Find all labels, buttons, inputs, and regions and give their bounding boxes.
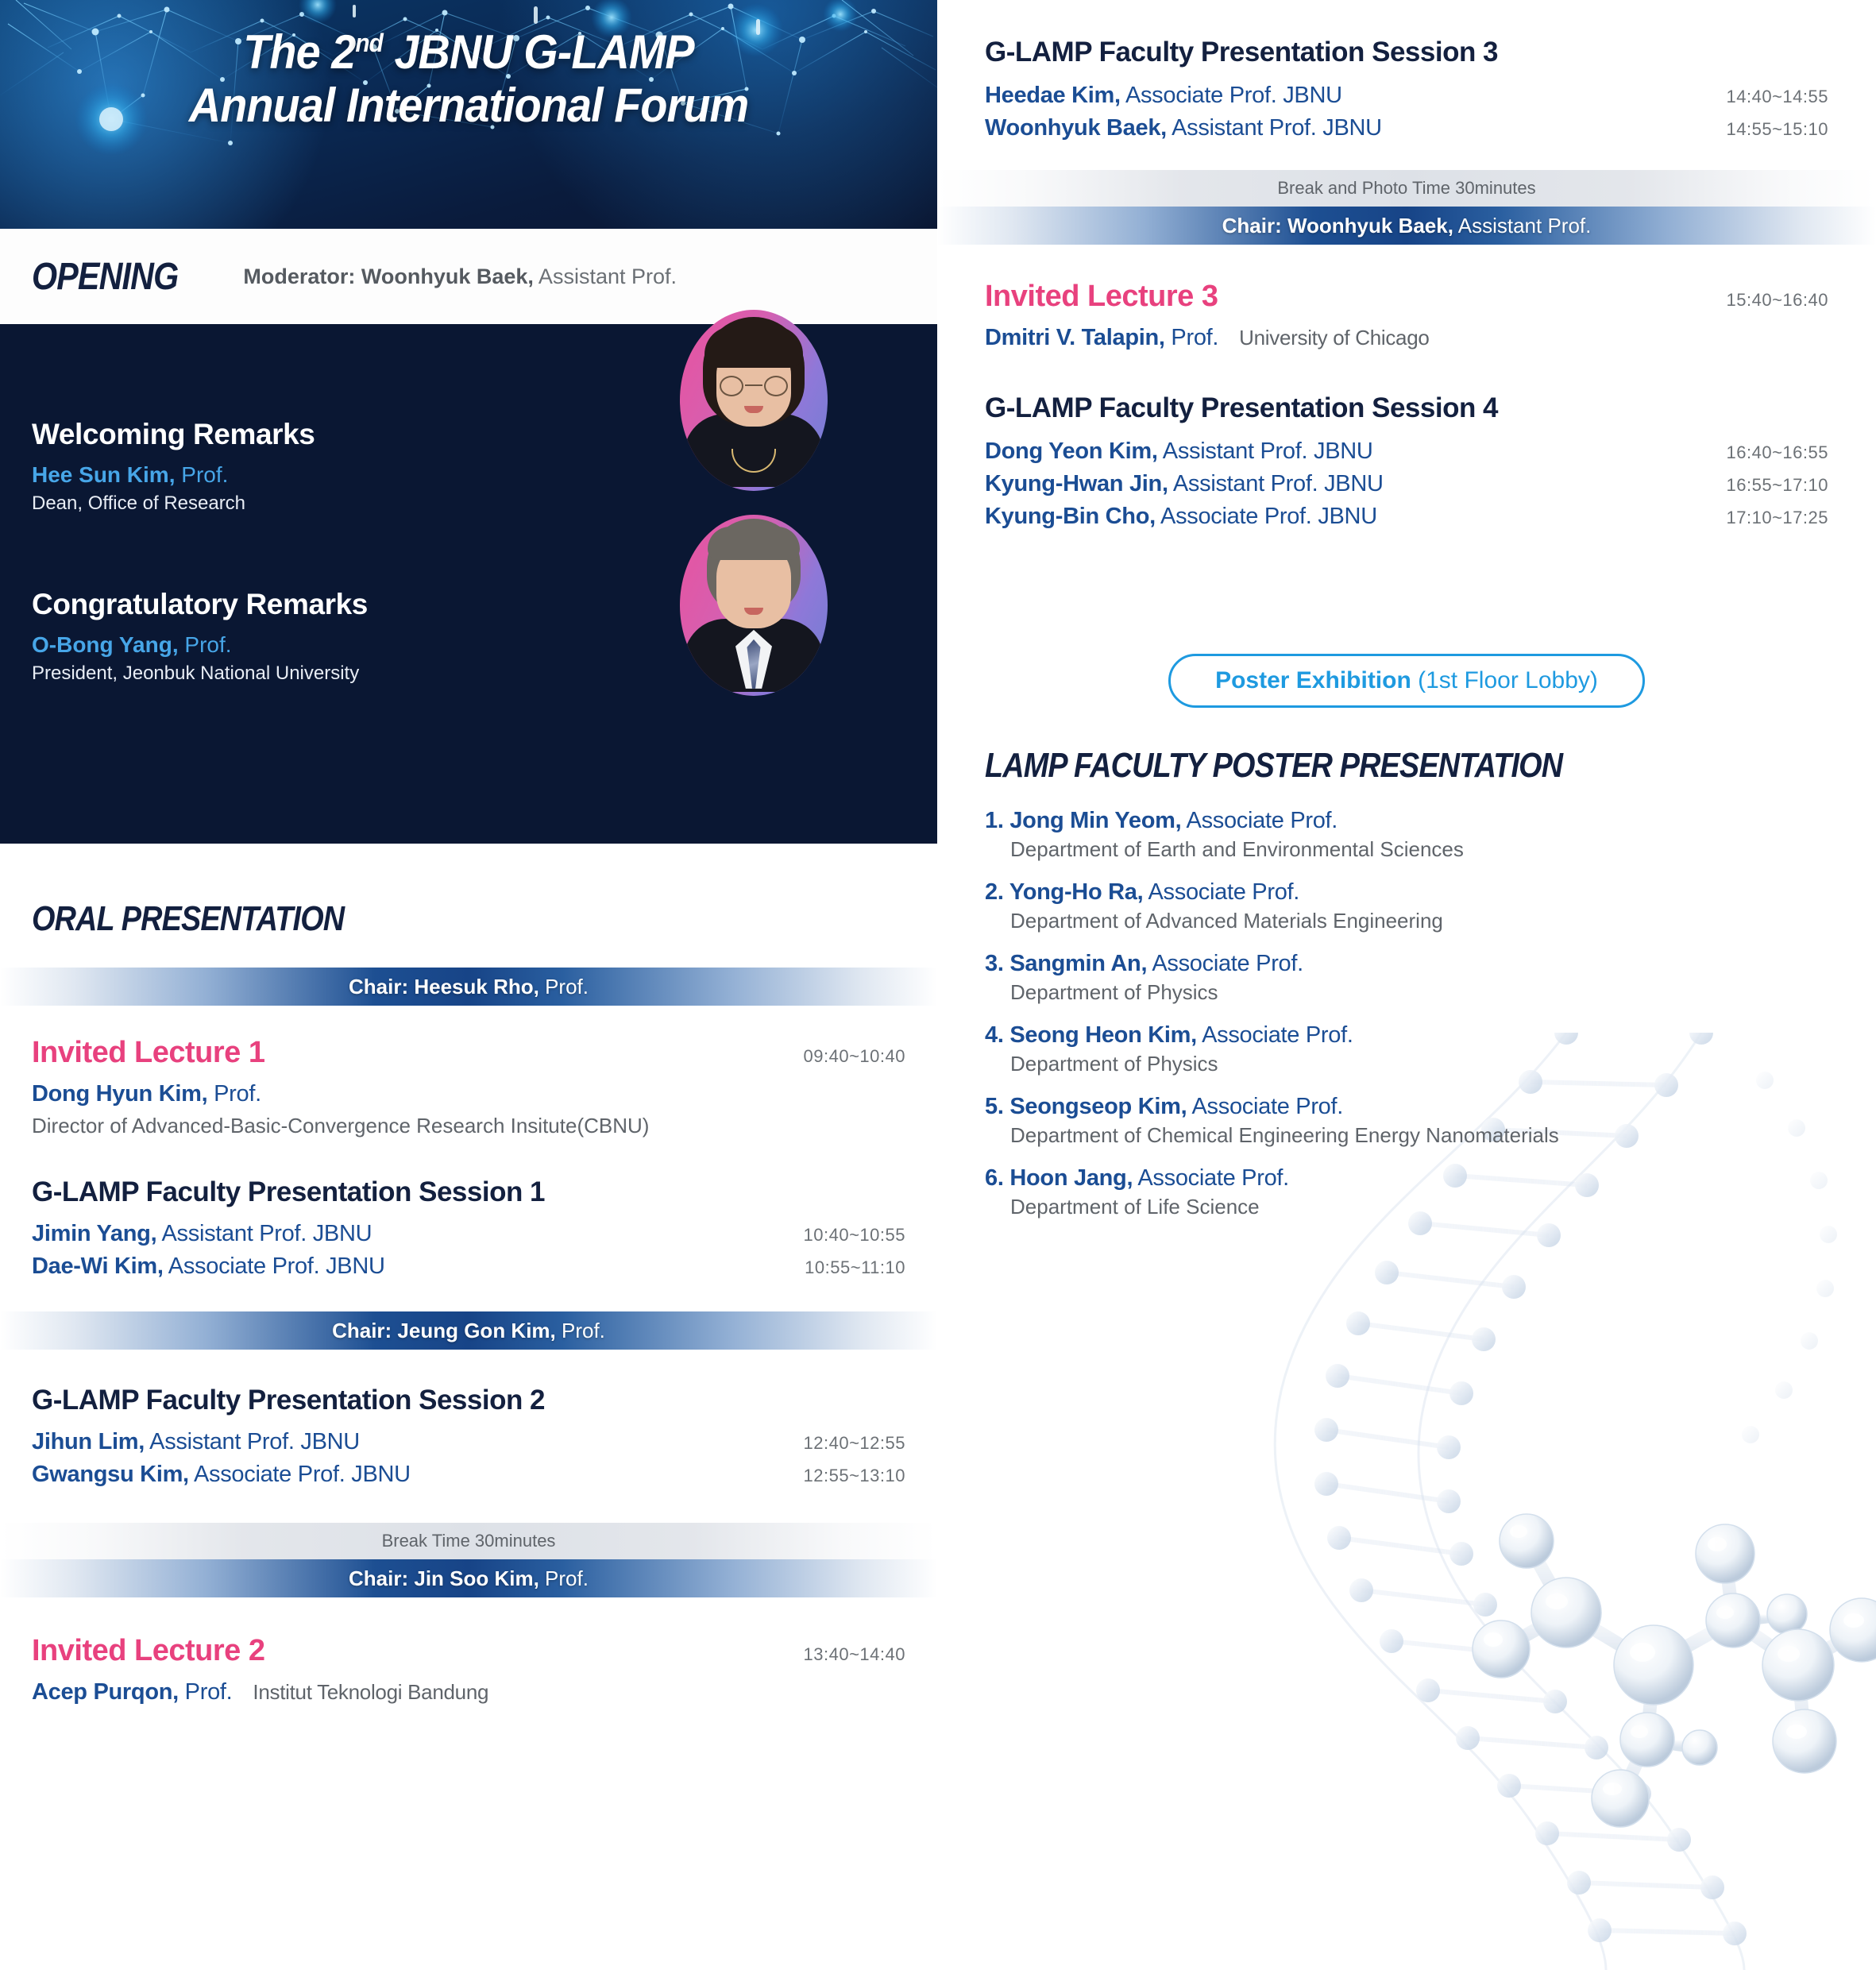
- poster-2-dept: Department of Advanced Materials Enginee…: [1010, 909, 1828, 933]
- poster-6-dept: Department of Life Science: [1010, 1195, 1828, 1219]
- s4r2-name: Kyung-Hwan Jin,: [985, 471, 1168, 496]
- session-1: G-LAMP Faculty Presentation Session 1 Ji…: [32, 1176, 905, 1280]
- s1r1-time: 10:40~10:55: [804, 1225, 905, 1246]
- invited-lecture-1-title: Invited Lecture 1: [32, 1036, 264, 1070]
- session-3: G-LAMP Faculty Presentation Session 3 He…: [985, 0, 1828, 141]
- poster-presentation-heading: LAMP FACULTY POSTER PRESENTATION: [985, 746, 1710, 786]
- hero-title-line1-a: The 2: [243, 25, 355, 79]
- invited-lecture-1-time: 09:40~10:40: [804, 1046, 905, 1067]
- s1r1-title: Assistant Prof. JBNU: [156, 1221, 372, 1246]
- chair2-title: Prof.: [556, 1319, 605, 1342]
- invited-lecture-3-speaker-title: Prof.: [1165, 325, 1219, 350]
- poster-4-title: Associate Prof.: [1197, 1022, 1353, 1048]
- session-2-title: G-LAMP Faculty Presentation Session 2: [32, 1385, 905, 1416]
- poster-3-dept: Department of Physics: [1010, 980, 1828, 1005]
- chair4-title: Assistant Prof.: [1453, 214, 1591, 238]
- session-1-row-1: Jimin Yang, Assistant Prof. JBNU 10:40~1…: [32, 1221, 905, 1247]
- session-4: G-LAMP Faculty Presentation Session 4 Do…: [985, 392, 1828, 530]
- poster-badge-bold: Poster Exhibition: [1215, 667, 1411, 693]
- s2r1-time: 12:40~12:55: [804, 1433, 905, 1454]
- s4r2-time: 16:55~17:10: [1727, 475, 1828, 496]
- session-2-row-1: Jihun Lim, Assistant Prof. JBNU 12:40~12…: [32, 1429, 905, 1455]
- session-2-row-2: Gwangsu Kim, Associate Prof. JBNU 12:55~…: [32, 1462, 905, 1488]
- list-item: 5. Seongseop Kim, Associate Prof. Depart…: [985, 1094, 1828, 1148]
- invited-lecture-1: Invited Lecture 1 09:40~10:40 Dong Hyun …: [32, 1036, 905, 1138]
- poster-presentation-section: LAMP FACULTY POSTER PRESENTATION 1. Jong…: [985, 746, 1828, 1219]
- invited-lecture-1-speaker: Dong Hyun Kim, Prof.: [32, 1081, 905, 1107]
- s3r2-time: 14:55~15:10: [1727, 119, 1828, 140]
- session-3-title: G-LAMP Faculty Presentation Session 3: [985, 37, 1828, 68]
- list-item: 6. Hoon Jang, Associate Prof. Department…: [985, 1165, 1828, 1219]
- poster-exhibition-badge-wrap: Poster Exhibition (1st Floor Lobby): [985, 654, 1828, 708]
- poster-3-title: Associate Prof.: [1147, 951, 1303, 976]
- invited-lecture-3-title: Invited Lecture 3: [985, 280, 1218, 314]
- oral-presentation-heading: ORAL PRESENTATION: [32, 899, 783, 939]
- poster-exhibition-badge[interactable]: Poster Exhibition (1st Floor Lobby): [1168, 654, 1645, 708]
- session-1-title: G-LAMP Faculty Presentation Session 1: [32, 1176, 905, 1208]
- s3r1-title: Associate Prof. JBNU: [1121, 83, 1342, 108]
- chair3-title: Prof.: [539, 1566, 589, 1590]
- poster-4-name: 4. Seong Heon Kim,: [985, 1022, 1197, 1048]
- opening-label: OPENING: [32, 255, 178, 299]
- opening-moderator-bold: Moderator: Woonhyuk Baek,: [243, 265, 534, 288]
- s4r2-title: Assistant Prof. JBNU: [1168, 471, 1384, 496]
- hero-title-ordinal: nd: [355, 29, 382, 57]
- invited-lecture-2-speaker: Acep Purqon, Prof.Institut Teknologi Ban…: [32, 1679, 905, 1705]
- list-item: 4. Seong Heon Kim, Associate Prof. Depar…: [985, 1022, 1828, 1076]
- invited-lecture-3-time: 15:40~16:40: [1727, 290, 1828, 311]
- list-item: 3. Sangmin An, Associate Prof. Departmen…: [985, 951, 1828, 1005]
- s4r1-name: Dong Yeon Kim,: [985, 438, 1158, 464]
- session-1-row-2: Dae-Wi Kim, Associate Prof. JBNU 10:55~1…: [32, 1253, 905, 1280]
- poster-5-title: Associate Prof.: [1187, 1094, 1343, 1119]
- session-4-row-3: Kyung-Bin Cho, Associate Prof. JBNU 17:1…: [985, 504, 1828, 530]
- avatar-hee-sun-kim: [680, 310, 828, 491]
- break-bar-1-label: Break Time 30minutes: [382, 1531, 556, 1551]
- s4r3-name: Kyung-Bin Cho,: [985, 504, 1156, 529]
- poster-3-name: 3. Sangmin An,: [985, 951, 1147, 976]
- opening-moderator-light: Assistant Prof.: [534, 265, 677, 288]
- invited-lecture-2-speaker-name: Acep Purqon,: [32, 1679, 179, 1705]
- congratulatory-speaker-name: O-Bong Yang,: [32, 632, 179, 657]
- welcoming-speaker-title: Prof.: [175, 462, 228, 487]
- congratulatory-speaker-title: Prof.: [179, 632, 232, 657]
- s1r2-name: Dae-Wi Kim,: [32, 1253, 164, 1279]
- s3r2-name: Woonhyuk Baek,: [985, 115, 1167, 141]
- break-bar-2-label: Break and Photo Time 30minutes: [1277, 178, 1535, 199]
- invited-lecture-3: Invited Lecture 3 15:40~16:40 Dmitri V. …: [985, 280, 1828, 351]
- s2r1-name: Jihun Lim,: [32, 1429, 145, 1454]
- session-3-row-2: Woonhyuk Baek, Assistant Prof. JBNU 14:5…: [985, 115, 1828, 141]
- chair-bar-jeung-gon-kim: Chair: Jeung Gon Kim, Prof.: [0, 1311, 937, 1350]
- poster-6-name: 6. Hoon Jang,: [985, 1165, 1133, 1191]
- chair-bar-woonhyuk-baek: Chair: Woonhyuk Baek, Assistant Prof.: [937, 207, 1876, 245]
- poster-2-title: Associate Prof.: [1143, 879, 1299, 905]
- session-4-row-1: Dong Yeon Kim, Assistant Prof. JBNU 16:4…: [985, 438, 1828, 465]
- hero-title-line2: Annual International Forum: [33, 79, 904, 132]
- invited-lecture-1-speaker-title: Prof.: [207, 1081, 261, 1107]
- session-4-row-2: Kyung-Hwan Jin, Assistant Prof. JBNU 16:…: [985, 471, 1828, 497]
- chair-bar-heesuk-rho: Chair: Heesuk Rho, Prof.: [0, 968, 937, 1006]
- chair2-name: Chair: Jeung Gon Kim,: [332, 1319, 556, 1342]
- poster-2-name: 2. Yong-Ho Ra,: [985, 879, 1143, 905]
- poster-4-dept: Department of Physics: [1010, 1052, 1828, 1076]
- s3r2-title: Assistant Prof. JBNU: [1167, 115, 1382, 141]
- session-4-title: G-LAMP Faculty Presentation Session 4: [985, 392, 1828, 424]
- molecule-icon: [1473, 1514, 1876, 1827]
- invited-lecture-2-title: Invited Lecture 2: [32, 1634, 264, 1668]
- list-item: 2. Yong-Ho Ra, Associate Prof. Departmen…: [985, 879, 1828, 933]
- s1r2-time: 10:55~11:10: [805, 1257, 905, 1278]
- opening-moderator: Moderator: Woonhyuk Baek, Assistant Prof…: [243, 265, 677, 289]
- invited-lecture-3-speaker: Dmitri V. Talapin, Prof.University of Ch…: [985, 325, 1828, 351]
- invited-lecture-3-affiliation: University of Chicago: [1239, 326, 1429, 350]
- poster-1-name: 1. Jong Min Yeom,: [985, 808, 1181, 833]
- poster-badge-light: (1st Floor Lobby): [1411, 667, 1598, 693]
- oral-presentation-section: ORAL PRESENTATION Chair: Heesuk Rho, Pro…: [0, 844, 937, 1705]
- invited-lecture-2-speaker-title: Prof.: [179, 1679, 233, 1705]
- left-column: The 2nd JBNU G-LAMP Annual International…: [0, 0, 937, 1970]
- s3r1-name: Heedae Kim,: [985, 83, 1121, 108]
- s2r2-time: 12:55~13:10: [804, 1466, 905, 1486]
- poster-5-name: 5. Seongseop Kim,: [985, 1094, 1187, 1119]
- poster-1-dept: Department of Earth and Environmental Sc…: [1010, 837, 1828, 862]
- chair-bar-jin-soo-kim: Chair: Jin Soo Kim, Prof.: [0, 1559, 937, 1597]
- invited-lecture-3-speaker-name: Dmitri V. Talapin,: [985, 325, 1165, 350]
- poster-6-title: Associate Prof.: [1133, 1165, 1289, 1191]
- session-3-row-1: Heedae Kim, Associate Prof. JBNU 14:40~1…: [985, 83, 1828, 109]
- s1r1-name: Jimin Yang,: [32, 1221, 156, 1246]
- invited-lecture-2: Invited Lecture 2 13:40~14:40 Acep Purqo…: [32, 1634, 905, 1705]
- chair1-name: Chair: Heesuk Rho,: [349, 975, 539, 999]
- welcoming-speaker-role: Dean, Office of Research: [32, 492, 905, 515]
- s2r2-title: Associate Prof. JBNU: [189, 1462, 411, 1487]
- hero-banner: The 2nd JBNU G-LAMP Annual International…: [0, 0, 937, 229]
- break-bar-2: Break and Photo Time 30minutes: [937, 170, 1876, 207]
- welcoming-speaker-name: Hee Sun Kim,: [32, 462, 175, 487]
- invited-lecture-2-affiliation: Institut Teknologi Bandung: [253, 1680, 488, 1704]
- right-column: G-LAMP Faculty Presentation Session 3 He…: [937, 0, 1876, 1970]
- chair3-name: Chair: Jin Soo Kim,: [349, 1566, 539, 1590]
- break-bar-1: Break Time 30minutes: [0, 1523, 937, 1559]
- s1r2-title: Associate Prof. JBNU: [164, 1253, 385, 1279]
- s2r2-name: Gwangsu Kim,: [32, 1462, 189, 1487]
- avatar-o-bong-yang: [680, 515, 828, 696]
- session-2: G-LAMP Faculty Presentation Session 2 Ji…: [32, 1385, 905, 1488]
- poster-5-dept: Department of Chemical Engineering Energ…: [1010, 1123, 1828, 1148]
- poster-1-title: Associate Prof.: [1181, 808, 1338, 833]
- chair1-title: Prof.: [539, 975, 589, 999]
- invited-lecture-1-affiliation: Director of Advanced-Basic-Convergence R…: [32, 1114, 905, 1138]
- page-title: The 2nd JBNU G-LAMP Annual International…: [0, 25, 937, 132]
- s4r1-time: 16:40~16:55: [1727, 442, 1828, 463]
- invited-lecture-2-time: 13:40~14:40: [804, 1644, 905, 1665]
- invited-lecture-1-speaker-name: Dong Hyun Kim,: [32, 1081, 207, 1107]
- chair4-name: Chair: Woonhyuk Baek,: [1222, 214, 1453, 238]
- s4r3-time: 17:10~17:25: [1727, 508, 1828, 528]
- hero-title-line1-b: JBNU G-LAMP: [383, 25, 694, 79]
- forum-program-poster: The 2nd JBNU G-LAMP Annual International…: [0, 0, 1876, 1970]
- s4r3-title: Associate Prof. JBNU: [1156, 504, 1377, 529]
- s4r1-title: Assistant Prof. JBNU: [1158, 438, 1373, 464]
- s2r1-title: Assistant Prof. JBNU: [145, 1429, 360, 1454]
- list-item: 1. Jong Min Yeom, Associate Prof. Depart…: [985, 808, 1828, 862]
- s3r1-time: 14:40~14:55: [1727, 87, 1828, 107]
- remarks-block: Welcoming Remarks Hee Sun Kim, Prof. Dea…: [0, 324, 937, 844]
